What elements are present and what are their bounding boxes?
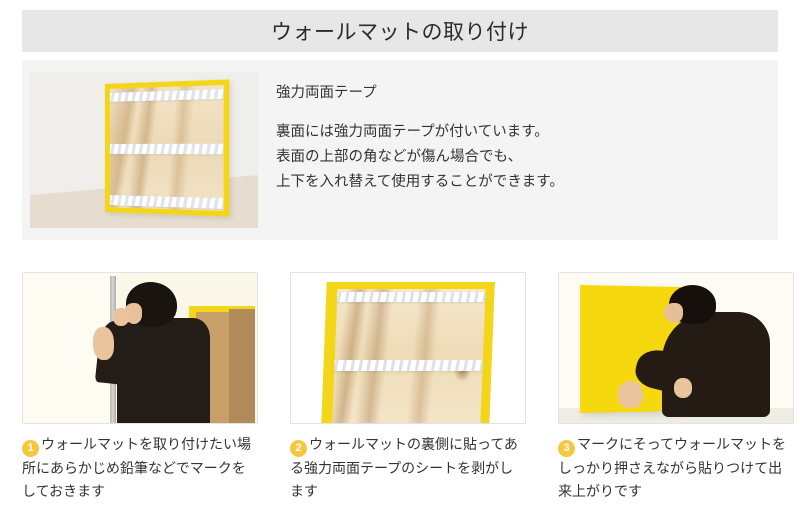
photo-illustration-marking-wall [23, 273, 257, 423]
instruction-page: ウォールマットの取り付け 強力両面テープ 裏面には強力両面テープが付いています。… [0, 0, 800, 520]
step-item-1: 1ウォールマットを取り付けたい場所にあらかじめ鉛筆などでマークをしておきます [22, 272, 258, 502]
wood-grain-texture [332, 289, 486, 424]
step-badge-1: 1 [22, 440, 39, 457]
person-hand-left [618, 381, 644, 408]
step-photo-3 [558, 272, 794, 424]
step-caption-3: 3マークにそってウォールマットをしっかり押さえながら貼りつけて出来上がりです [558, 433, 794, 502]
step-photo-2 [290, 272, 526, 424]
step-caption-text-2: ウォールマットの裏側に貼ってある強力両面テープのシートを剥がします [290, 436, 518, 499]
tape-strip-top [332, 292, 490, 302]
step-item-3: 3マークにそってウォールマットをしっかり押さえながら貼りつけて出来上がりです [558, 272, 794, 502]
step-caption-1: 1ウォールマットを取り付けたい場所にあらかじめ鉛筆などでマークをしておきます [22, 433, 258, 502]
info-line-1: 裏面には強力両面テープが付いています。 [276, 120, 756, 145]
info-panel: 強力両面テープ 裏面には強力両面テープが付いています。 表面の上部の角などが傷ん… [22, 60, 778, 240]
info-text-block: 強力両面テープ 裏面には強力両面テープが付いています。 表面の上部の角などが傷ん… [276, 86, 756, 195]
info-line-3: 上下を入れ替えて使用することができます。 [276, 170, 756, 195]
photo-illustration-pressing-mat [559, 273, 793, 423]
photo-illustration-mat-leaning [30, 72, 258, 228]
step-item-2: 2ウォールマットの裏側に貼ってある強力両面テープのシートを剥がします [290, 272, 526, 502]
step-caption-text-3: マークにそってウォールマットをしっかり押さえながら貼りつけて出来上がりです [558, 436, 786, 499]
info-subtitle: 強力両面テープ [276, 86, 756, 102]
page-header-band: ウォールマットの取り付け [22, 10, 778, 52]
photo-illustration-mat-back-closeup [291, 273, 525, 423]
person-hand-right [113, 308, 129, 326]
leaning-board-object [229, 309, 255, 423]
steps-row: 1ウォールマットを取り付けたい場所にあらかじめ鉛筆などでマークをしておきます 2… [22, 272, 778, 502]
step-photo-1 [22, 272, 258, 424]
wall-mat-object [321, 282, 495, 424]
wall-mat-object [105, 80, 229, 217]
info-photo-mat-back [30, 72, 258, 228]
person-hand-left [93, 327, 114, 360]
info-line-2: 表面の上部の角などが傷ん場合でも、 [276, 145, 756, 170]
tape-strip-middle [108, 145, 226, 155]
person-hand-right [674, 378, 693, 398]
page-title: ウォールマットの取り付け [271, 16, 529, 46]
tape-strip-middle [330, 360, 488, 370]
step-badge-2: 2 [290, 440, 307, 457]
step-caption-2: 2ウォールマットの裏側に貼ってある強力両面テープのシートを剥がします [290, 433, 526, 502]
person-face [664, 303, 683, 323]
step-caption-text-1: ウォールマットを取り付けたい場所にあらかじめ鉛筆などでマークをしておきます [22, 436, 251, 499]
step-badge-3: 3 [558, 440, 575, 457]
